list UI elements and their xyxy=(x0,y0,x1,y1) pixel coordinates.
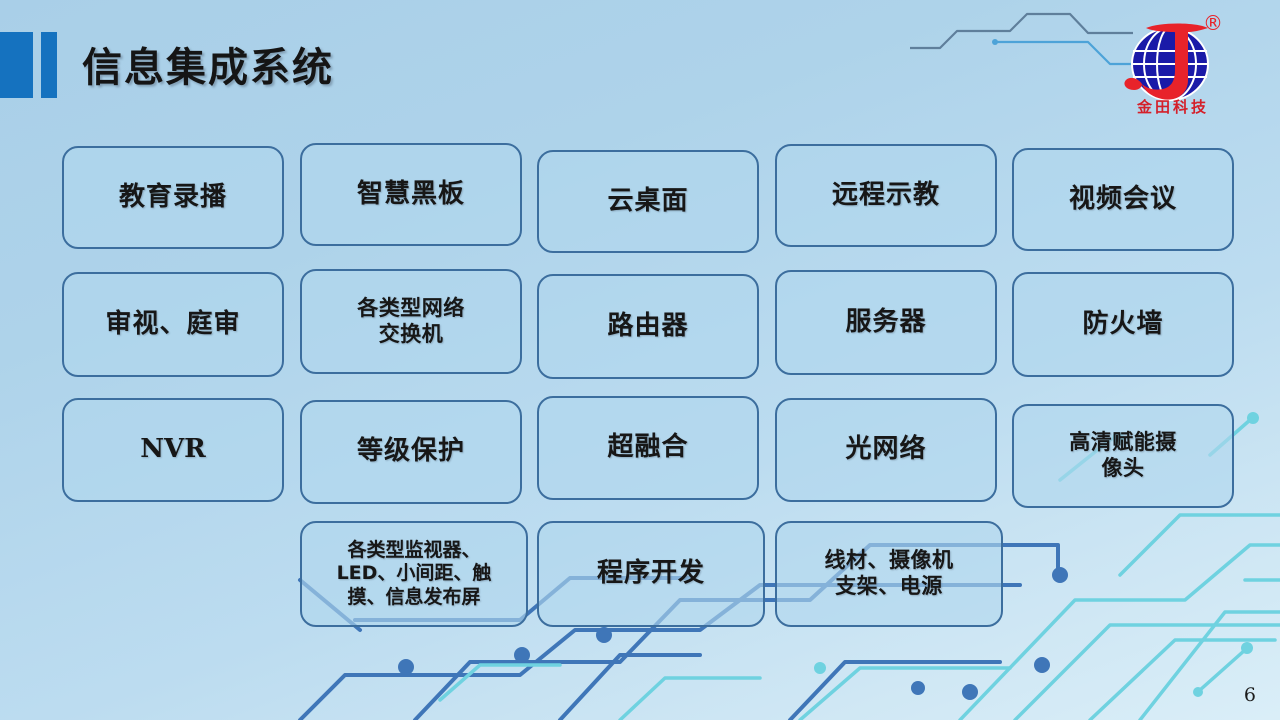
grid-cell[interactable]: 审视、庭审 xyxy=(62,272,284,377)
grid-cell-label: 云桌面 xyxy=(601,186,694,218)
grid-cell-label: 光网络 xyxy=(839,434,932,466)
grid-cell-label: 超融合 xyxy=(601,432,694,464)
grid-cell-label: 远程示教 xyxy=(826,180,946,212)
grid-cell[interactable]: 程序开发 xyxy=(537,521,765,627)
grid-cell-label: 等级保护 xyxy=(351,436,471,468)
grid-cell[interactable]: NVR xyxy=(62,398,284,502)
grid-cell[interactable]: 线材、摄像机 支架、电源 xyxy=(775,521,1003,627)
grid-cell[interactable]: 服务器 xyxy=(775,270,997,375)
grid-cell[interactable]: 超融合 xyxy=(537,396,759,500)
grid-cell-label: 教育录播 xyxy=(113,182,233,214)
grid-cell[interactable]: 远程示教 xyxy=(775,144,997,247)
slide-canvas: 信息集成系统 ® 金田科技 教育录播智慧黑板云桌面远程示教视频会议审视、庭审各类… xyxy=(0,0,1280,720)
grid-cell-label: 各类型监视器、 LED、小间距、触 摸、信息发布屏 xyxy=(331,539,498,609)
grid-cell-label: 程序开发 xyxy=(591,558,711,590)
grid-cell[interactable]: 各类型网络 交换机 xyxy=(300,269,522,374)
grid-cell-label: 防火墙 xyxy=(1076,309,1169,341)
grid-cell-label: 高清赋能摄 像头 xyxy=(1063,430,1183,481)
grid-cell[interactable]: 智慧黑板 xyxy=(300,143,522,246)
grid-cell-label: 线材、摄像机 支架、电源 xyxy=(819,548,960,599)
grid-cell-label: 审视、庭审 xyxy=(99,309,246,341)
grid-cell-label: 路由器 xyxy=(601,311,694,343)
grid-cell[interactable]: 路由器 xyxy=(537,274,759,379)
grid-cell[interactable]: 光网络 xyxy=(775,398,997,502)
grid-cell-label: 各类型网络 交换机 xyxy=(351,296,471,347)
grid-cell[interactable]: 云桌面 xyxy=(537,150,759,253)
systems-grid: 教育录播智慧黑板云桌面远程示教视频会议审视、庭审各类型网络 交换机路由器服务器防… xyxy=(0,0,1280,720)
grid-cell-label: 服务器 xyxy=(839,307,932,339)
grid-cell[interactable]: 教育录播 xyxy=(62,146,284,249)
grid-cell[interactable]: 防火墙 xyxy=(1012,272,1234,377)
grid-cell[interactable]: 视频会议 xyxy=(1012,148,1234,251)
grid-cell-label: 视频会议 xyxy=(1063,184,1183,216)
grid-cell[interactable]: 等级保护 xyxy=(300,400,522,504)
grid-cell-label: NVR xyxy=(134,434,212,466)
grid-cell-label: 智慧黑板 xyxy=(351,179,471,211)
page-number: 6 xyxy=(1244,684,1256,706)
grid-cell[interactable]: 各类型监视器、 LED、小间距、触 摸、信息发布屏 xyxy=(300,521,528,627)
grid-cell[interactable]: 高清赋能摄 像头 xyxy=(1012,404,1234,508)
